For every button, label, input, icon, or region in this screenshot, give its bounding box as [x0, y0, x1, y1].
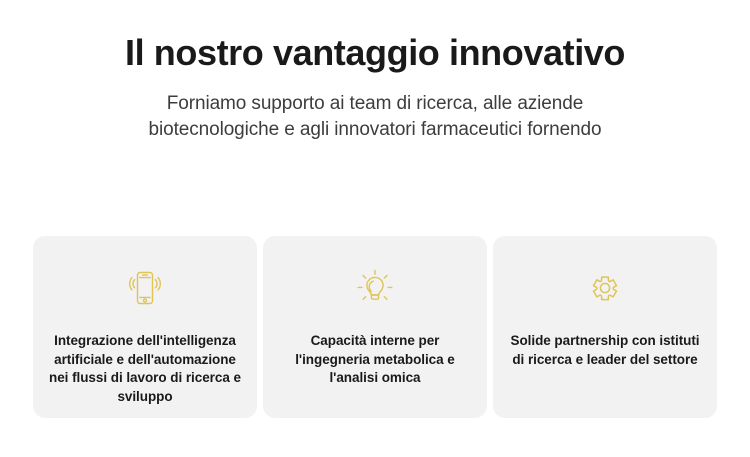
feature-card[interactable]: Capacità interne per l'ingegneria metabo…	[263, 236, 487, 418]
page-title: Il nostro vantaggio innovativo	[115, 30, 635, 75]
feature-card[interactable]: Integrazione dell'intelligenza artificia…	[33, 236, 257, 418]
gear-icon	[583, 266, 627, 310]
feature-card-text: Capacità interne per l'ingegneria metabo…	[273, 332, 477, 388]
section-header: Il nostro vantaggio innovativo Forniamo …	[0, 0, 750, 143]
feature-section: Il nostro vantaggio innovativo Forniamo …	[0, 0, 750, 457]
lightbulb-icon	[353, 266, 397, 310]
feature-card-text: Solide partnership con istituti di ricer…	[503, 332, 707, 369]
feature-card[interactable]: Solide partnership con istituti di ricer…	[493, 236, 717, 418]
feature-card-list: Integrazione dell'intelligenza artificia…	[33, 236, 717, 418]
feature-card-text: Integrazione dell'intelligenza artificia…	[43, 332, 247, 406]
section-subtitle: Forniamo supporto ai team di ricerca, al…	[110, 91, 640, 143]
vibrating-phone-icon	[123, 266, 167, 310]
